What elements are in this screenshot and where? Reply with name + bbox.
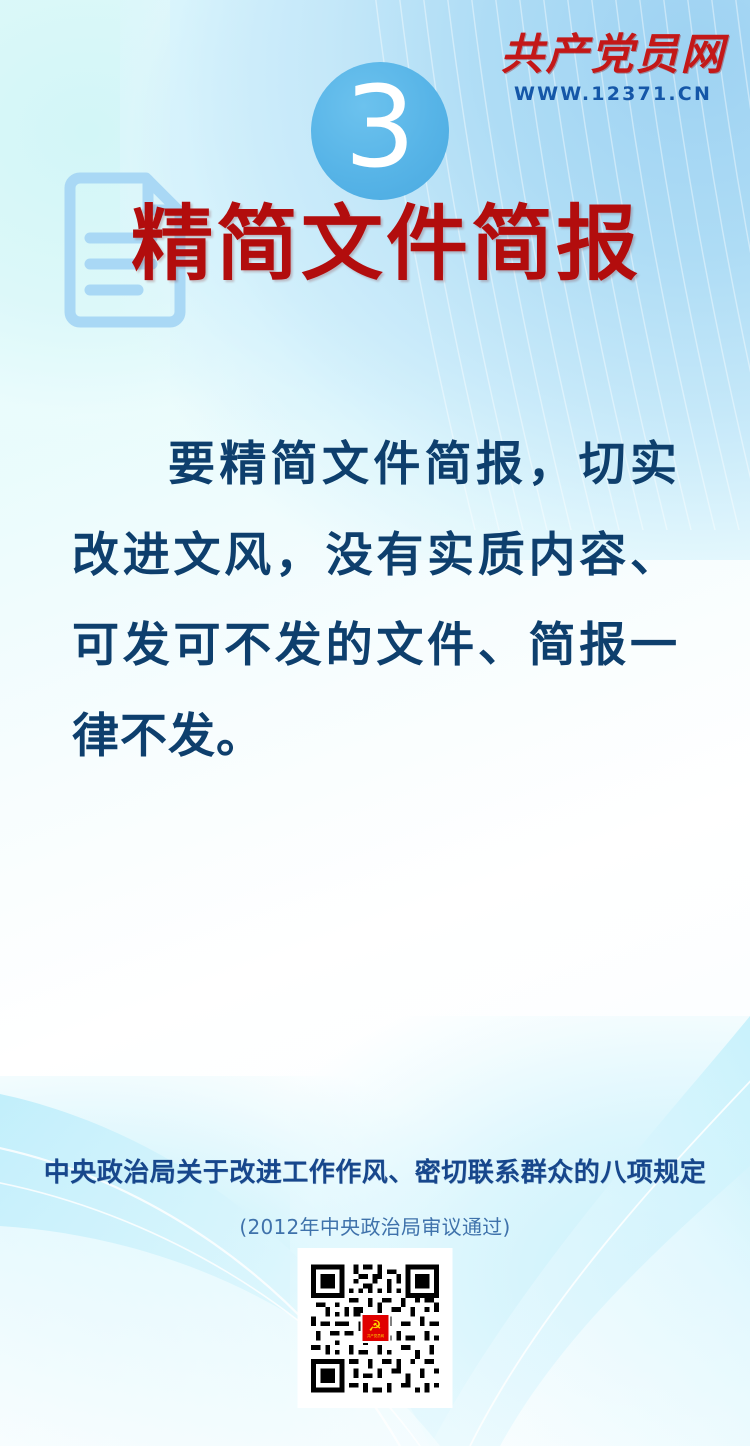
approval-note: (2012年中央政治局审议通过) — [0, 1211, 750, 1240]
poster-root: 3 精简文件简报 共产党员网 WWW.12371.CN 要精简文件简报，切实改进… — [0, 0, 750, 1446]
number-badge: 3 — [311, 62, 449, 200]
regulation-title: 中央政治局关于改进工作作风、密切联系群众的八项规定 — [0, 1152, 750, 1189]
qr-code[interactable]: ☭ 共产党员网 — [298, 1248, 453, 1408]
site-logo-name: 共产党员网 — [498, 34, 728, 77]
site-logo[interactable]: 共产党员网 WWW.12371.CN — [498, 34, 728, 105]
party-emblem-caption: 共产党员网 — [367, 1333, 384, 1337]
page-title: 精简文件简报 — [0, 202, 750, 288]
site-logo-url: WWW.12371.CN — [498, 83, 728, 105]
party-emblem-icon: ☭ 共产党员网 — [360, 1313, 390, 1343]
body-paragraph: 要精简文件简报，切实改进文风，没有实质内容、可发可不发的文件、简报一律不发。 — [72, 420, 678, 783]
footer: 中央政治局关于改进工作作风、密切联系群众的八项规定 (2012年中央政治局审议通… — [0, 1152, 750, 1240]
number-badge-value: 3 — [344, 72, 415, 184]
hammer-sickle-glyph: ☭ — [368, 1319, 381, 1333]
